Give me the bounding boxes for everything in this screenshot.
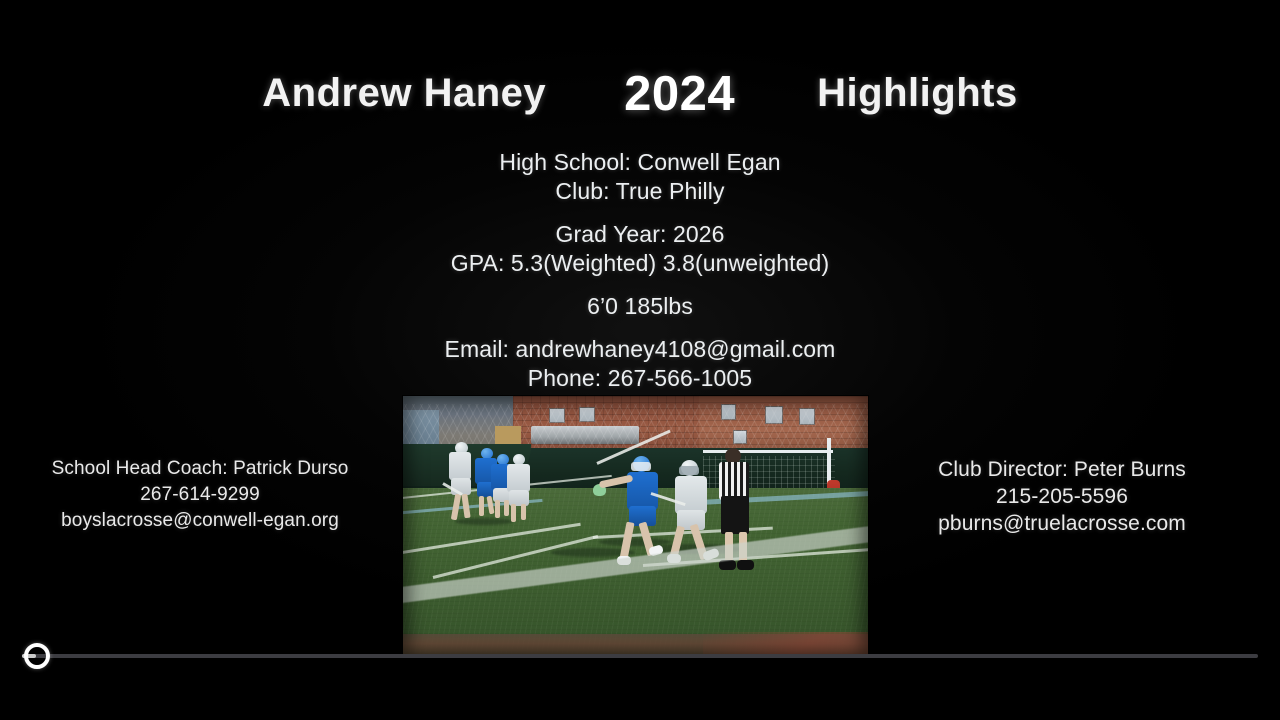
info-height-weight: 6’0 185lbs	[0, 292, 1280, 321]
photo-sign-box	[495, 426, 521, 444]
video-controls-bar[interactable]	[0, 628, 1280, 720]
player-info-block: High School: Conwell Egan Club: True Phi…	[0, 148, 1280, 393]
info-high-school: High School: Conwell Egan	[0, 148, 1280, 177]
photo-shoe	[737, 560, 754, 570]
slide-title-row: Andrew Haney 2024 Highlights	[0, 62, 1280, 124]
photo-helmet-facemask	[679, 466, 699, 475]
player-name-title: Andrew Haney	[262, 71, 546, 116]
video-frame[interactable]: Andrew Haney 2024 Highlights High School…	[0, 0, 1280, 720]
video-player[interactable]: Andrew Haney 2024 Highlights High School…	[0, 0, 1280, 720]
club-director-phone: 215-205-5596	[880, 483, 1244, 510]
info-phone: Phone: 267-566-1005	[0, 364, 1280, 393]
info-group-measurements: 6’0 185lbs	[0, 292, 1280, 321]
info-group-school: High School: Conwell Egan Club: True Phi…	[0, 148, 1280, 206]
info-group-academics: Grad Year: 2026 GPA: 5.3(Weighted) 3.8(u…	[0, 220, 1280, 278]
photo-goal-crossbar	[703, 450, 833, 453]
school-coach-contact-block: School Head Coach: Patrick Durso 267-614…	[18, 456, 382, 534]
video-progress-track[interactable]	[22, 654, 1258, 658]
school-coach-name: School Head Coach: Patrick Durso	[18, 456, 382, 482]
info-email: Email: andrewhaney4108@gmail.com	[0, 335, 1280, 364]
photo-helmet-facemask	[631, 462, 651, 471]
video-scrubber-handle[interactable]	[24, 643, 50, 669]
club-director-name: Club Director: Peter Burns	[880, 456, 1244, 483]
info-club: Club: True Philly	[0, 177, 1280, 206]
info-gpa: GPA: 5.3(Weighted) 3.8(unweighted)	[0, 249, 1280, 278]
season-year-title: 2024	[624, 66, 735, 122]
highlights-title: Highlights	[817, 71, 1018, 116]
action-photo	[403, 396, 868, 658]
photo-player-shadow	[455, 518, 513, 525]
club-director-contact-block: Club Director: Peter Burns 215-205-5596 …	[880, 456, 1244, 537]
school-coach-email: boyslacrosse@conwell-egan.org	[18, 508, 382, 534]
club-director-email: pburns@truelacrosse.com	[880, 510, 1244, 537]
school-coach-phone: 267-614-9299	[18, 482, 382, 508]
info-grad-year: Grad Year: 2026	[0, 220, 1280, 249]
info-group-contact: Email: andrewhaney4108@gmail.com Phone: …	[0, 335, 1280, 393]
